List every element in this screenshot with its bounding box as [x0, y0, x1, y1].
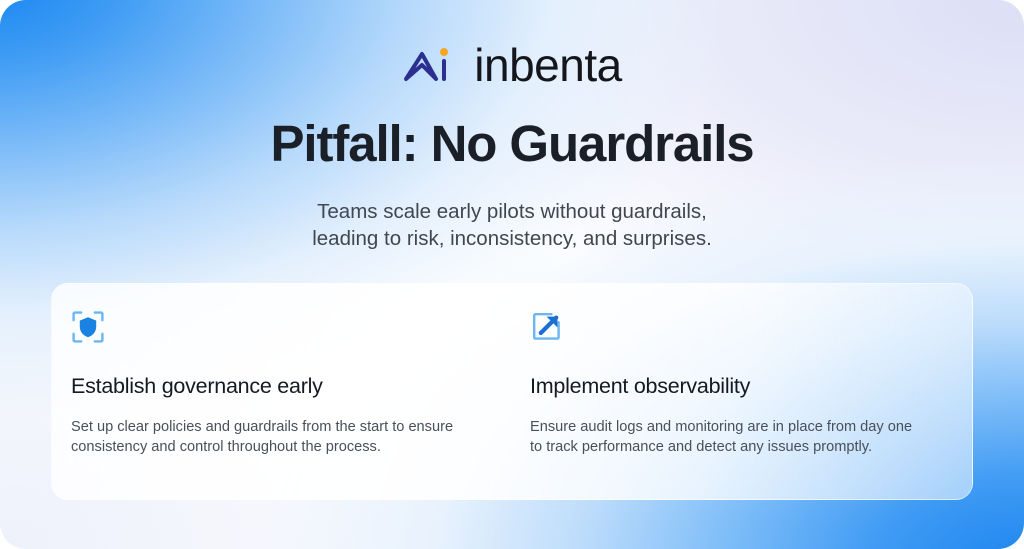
card-body: Ensure audit logs and monitoring are in …	[530, 417, 938, 458]
page-subtitle: Teams scale early pilots without guardra…	[0, 198, 1024, 252]
slide-canvas: inbenta Pitfall: No Guardrails Teams sca…	[0, 0, 1024, 549]
card-establish-governance: Establish governance early Set up clear …	[52, 284, 512, 499]
shield-scan-icon	[71, 310, 105, 344]
card-heading: Implement observability	[530, 374, 938, 399]
brand-logo: inbenta	[0, 42, 1024, 88]
cards-panel: Establish governance early Set up clear …	[51, 283, 973, 500]
inbenta-ai-mark-icon	[402, 45, 460, 85]
page-title: Pitfall: No Guardrails	[0, 116, 1024, 172]
card-implement-observability: Implement observability Ensure audit log…	[512, 284, 972, 499]
brand-wordmark: inbenta	[474, 42, 621, 88]
external-link-arrow-icon	[530, 310, 564, 344]
card-body: Set up clear policies and guardrails fro…	[71, 417, 478, 458]
card-heading: Establish governance early	[71, 374, 478, 399]
